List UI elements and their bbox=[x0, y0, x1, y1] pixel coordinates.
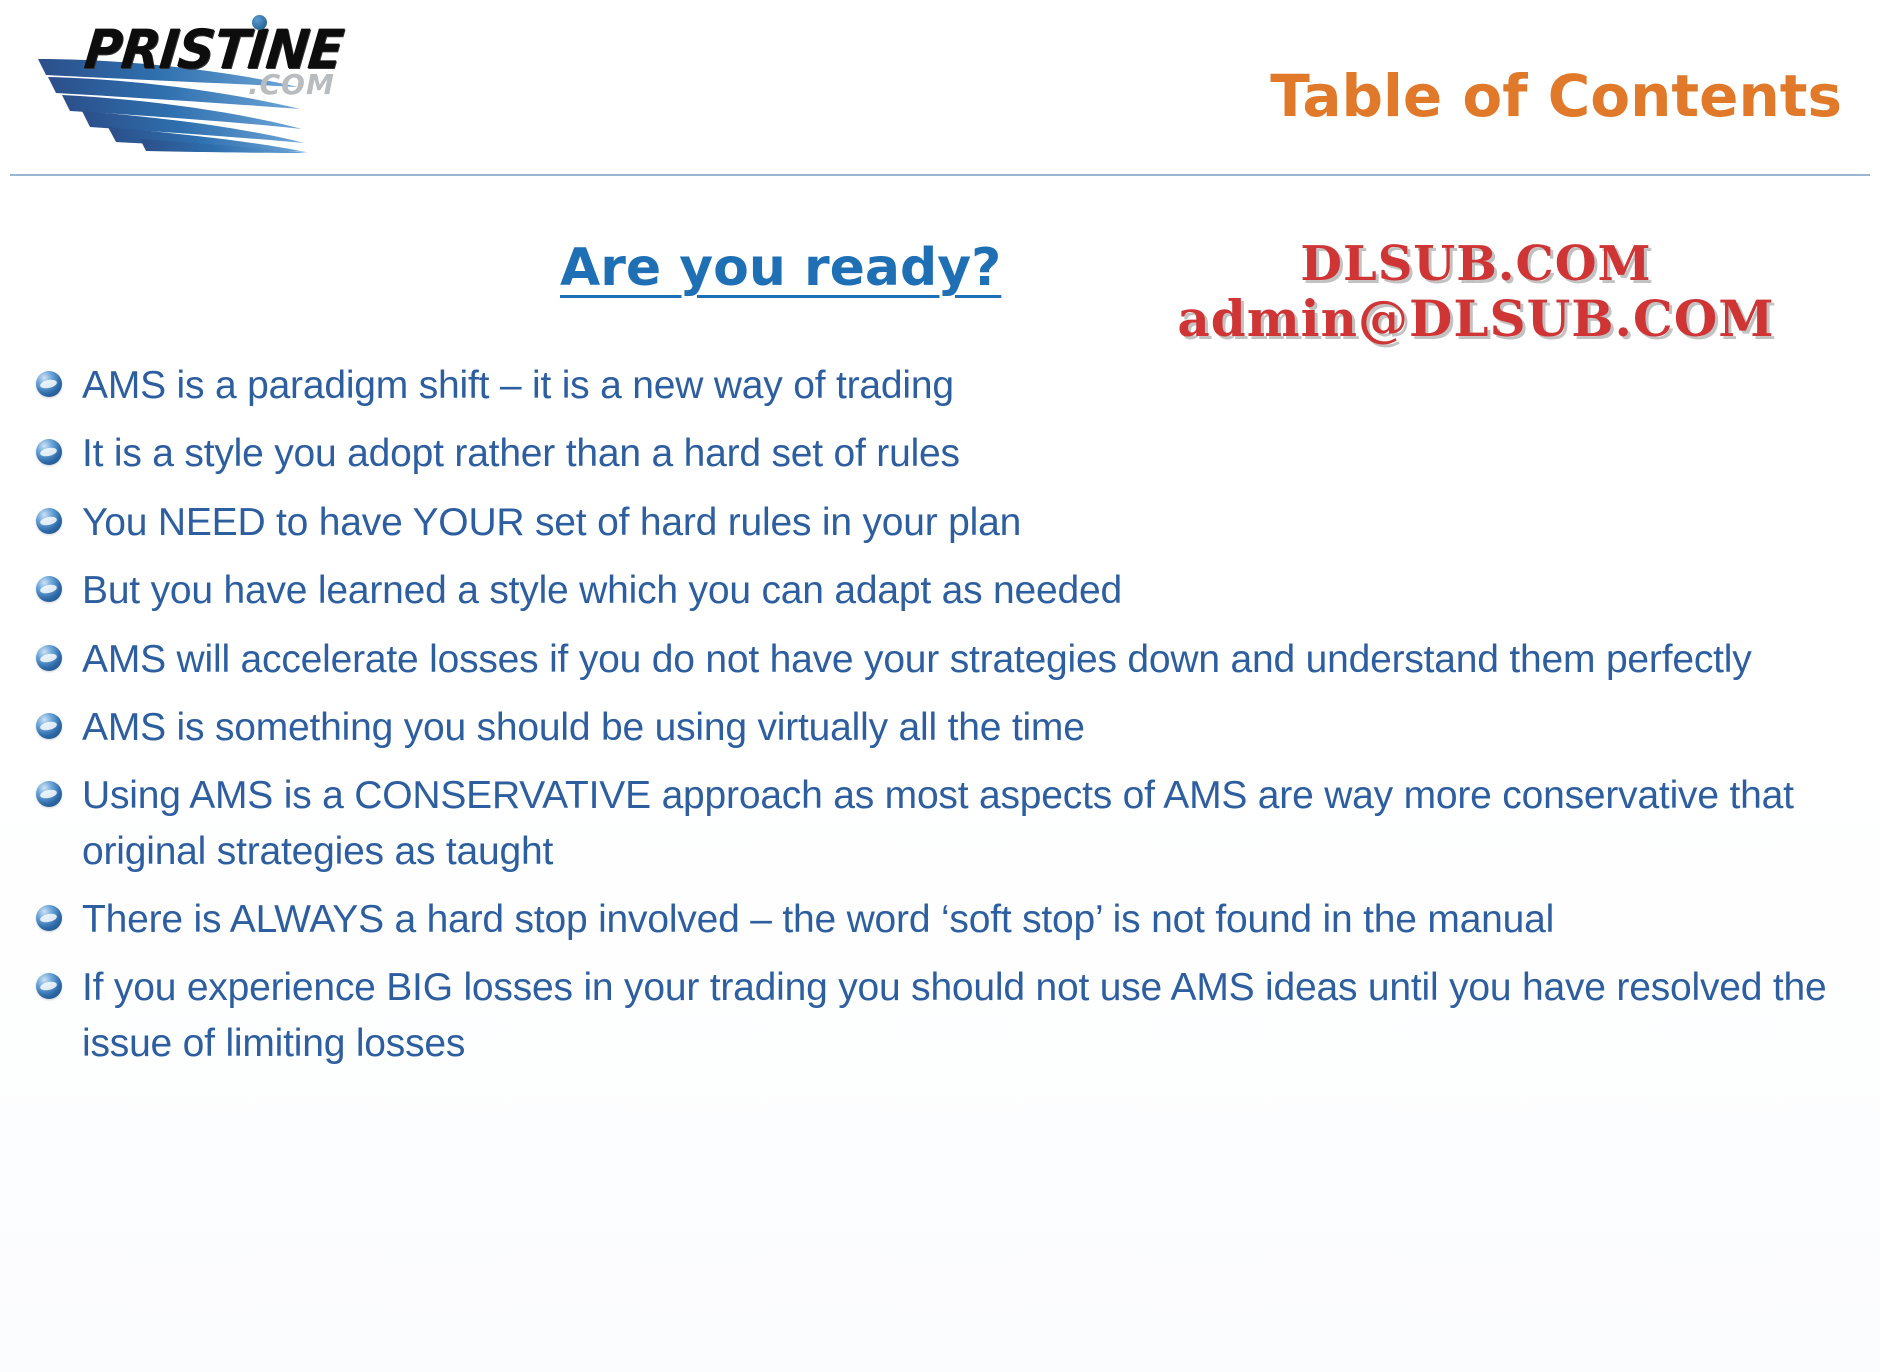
list-item-text: But you have learned a style which you c… bbox=[82, 563, 1122, 618]
list-item-text: There is ALWAYS a hard stop involved – t… bbox=[82, 892, 1554, 947]
list-item-text: If you experience BIG losses in your tra… bbox=[82, 960, 1848, 1071]
logo-com-suffix: .COM bbox=[248, 68, 335, 101]
list-item: There is ALWAYS a hard stop involved – t… bbox=[36, 892, 1848, 947]
list-item: AMS will accelerate losses if you do not… bbox=[36, 632, 1848, 687]
list-item: AMS is something you should be using vir… bbox=[36, 700, 1848, 755]
watermark: DLSUB.COM admin@DLSUB.COM bbox=[1096, 240, 1856, 344]
list-item: But you have learned a style which you c… bbox=[36, 563, 1848, 618]
list-item-text: AMS is something you should be using vir… bbox=[82, 700, 1085, 755]
sphere-bullet-icon bbox=[36, 439, 62, 465]
sphere-bullet-icon bbox=[36, 508, 62, 534]
list-item: Using AMS is a CONSERVATIVE approach as … bbox=[36, 768, 1848, 879]
list-item-text: It is a style you adopt rather than a ha… bbox=[82, 426, 960, 481]
sphere-bullet-icon bbox=[36, 645, 62, 671]
slide-header: PRISTINE .COM Table of Contents bbox=[0, 0, 1880, 175]
list-item: If you experience BIG losses in your tra… bbox=[36, 960, 1848, 1071]
list-item: You NEED to have YOUR set of hard rules … bbox=[36, 495, 1848, 550]
list-item-text: AMS will accelerate losses if you do not… bbox=[82, 632, 1752, 687]
sphere-bullet-icon bbox=[36, 781, 62, 807]
sphere-bullet-icon bbox=[36, 371, 62, 397]
sphere-bullet-icon bbox=[36, 905, 62, 931]
list-item-text: You NEED to have YOUR set of hard rules … bbox=[82, 495, 1021, 550]
list-item-text: AMS is a paradigm shift – it is a new wa… bbox=[82, 358, 954, 413]
bullet-list: AMS is a paradigm shift – it is a new wa… bbox=[36, 358, 1848, 1084]
watermark-email: admin@DLSUB.COM bbox=[1096, 293, 1856, 344]
page-title: Table of Contents bbox=[1270, 62, 1842, 130]
logo-dot-icon bbox=[252, 15, 267, 30]
list-item-text: Using AMS is a CONSERVATIVE approach as … bbox=[82, 768, 1848, 879]
header-divider bbox=[10, 174, 1870, 176]
watermark-site: DLSUB.COM bbox=[1096, 240, 1856, 289]
sphere-bullet-icon bbox=[36, 576, 62, 602]
list-item: AMS is a paradigm shift – it is a new wa… bbox=[36, 358, 1848, 413]
sphere-bullet-icon bbox=[36, 973, 62, 999]
slide-title: Are you ready? bbox=[560, 238, 1001, 298]
sphere-bullet-icon bbox=[36, 713, 62, 739]
pristine-logo[interactable]: PRISTINE .COM bbox=[30, 8, 390, 148]
list-item: It is a style you adopt rather than a ha… bbox=[36, 426, 1848, 481]
